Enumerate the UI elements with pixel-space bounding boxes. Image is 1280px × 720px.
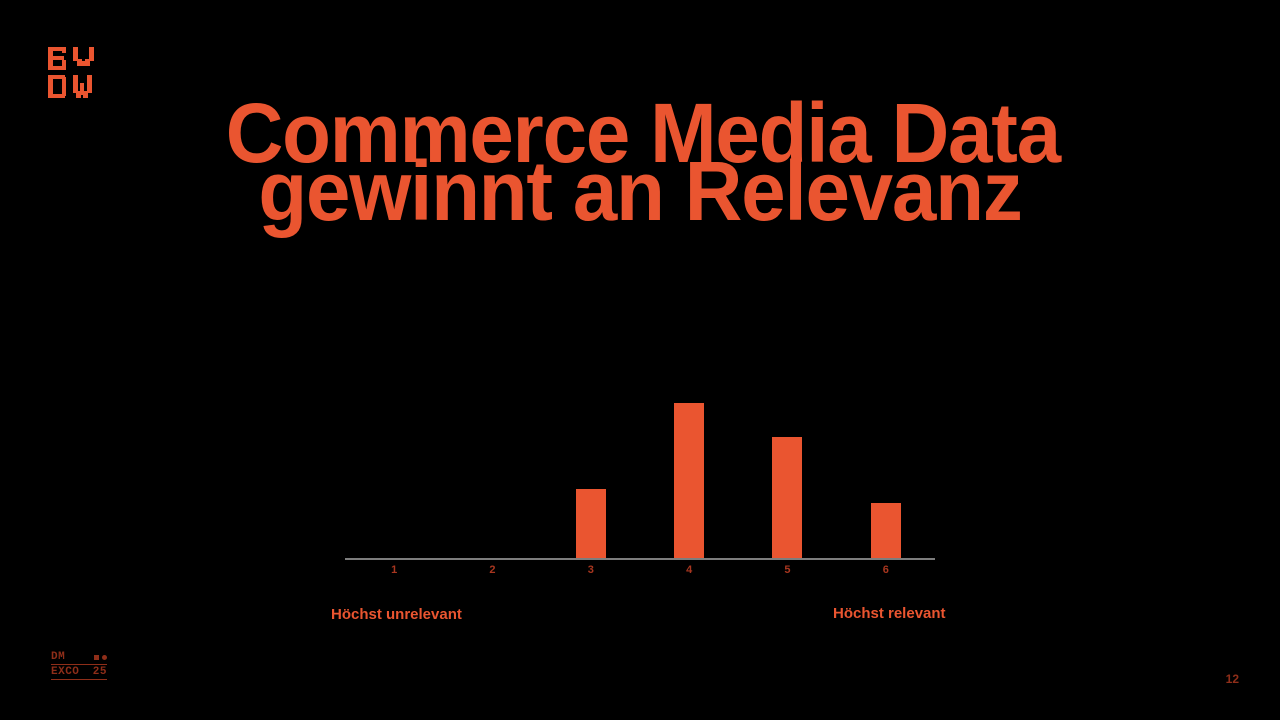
x-tick-3: 3 [542, 564, 640, 576]
bar-category-4 [674, 403, 704, 558]
page-number: 12 [1226, 672, 1239, 686]
circle-icon [102, 655, 107, 660]
x-tick-4: 4 [640, 564, 738, 576]
x-tick-5: 5 [738, 564, 836, 576]
x-tick-1: 1 [345, 564, 443, 576]
bar-category-3 [576, 489, 606, 558]
chart-x-axis-line [345, 558, 935, 560]
x-tick-6: 6 [837, 564, 935, 576]
bar-slot-3 [542, 380, 640, 558]
scale-label-low: Höchst unrelevant [331, 606, 462, 623]
square-icon [94, 655, 99, 660]
bar-slot-2 [443, 380, 541, 558]
slide-title: Commerce Media Data gewinnt an Relevanz [0, 104, 1280, 220]
dmexco-footer-logo: DM EXCO 25 [51, 650, 107, 680]
footer-brand-row-top: DM [51, 650, 107, 664]
x-tick-2: 2 [443, 564, 541, 576]
bar-category-6 [871, 503, 901, 558]
chart-bars [345, 380, 935, 558]
footer-brand-year: 25 [93, 666, 107, 678]
bar-slot-1 [345, 380, 443, 558]
footer-brand-marks [94, 655, 107, 660]
footer-brand-dm: DM [51, 652, 65, 663]
chart-x-axis-ticks: 1 2 3 4 5 6 [345, 564, 935, 576]
bar-slot-5 [738, 380, 836, 558]
relevance-bar-chart: 1 2 3 4 5 6 [345, 380, 935, 590]
footer-brand-rule-bottom [51, 679, 107, 680]
footer-brand-exco: EXCO [51, 666, 79, 678]
chart-plot-area [345, 380, 935, 558]
bar-slot-4 [640, 380, 738, 558]
slide-title-line-2: gewinnt an Relevanz [32, 162, 1248, 220]
footer-brand-row-bottom: EXCO 25 [51, 665, 107, 679]
bar-category-5 [772, 437, 802, 558]
scale-label-high: Höchst relevant [833, 605, 946, 622]
bvdw-logo [48, 47, 108, 99]
bar-slot-6 [837, 380, 935, 558]
